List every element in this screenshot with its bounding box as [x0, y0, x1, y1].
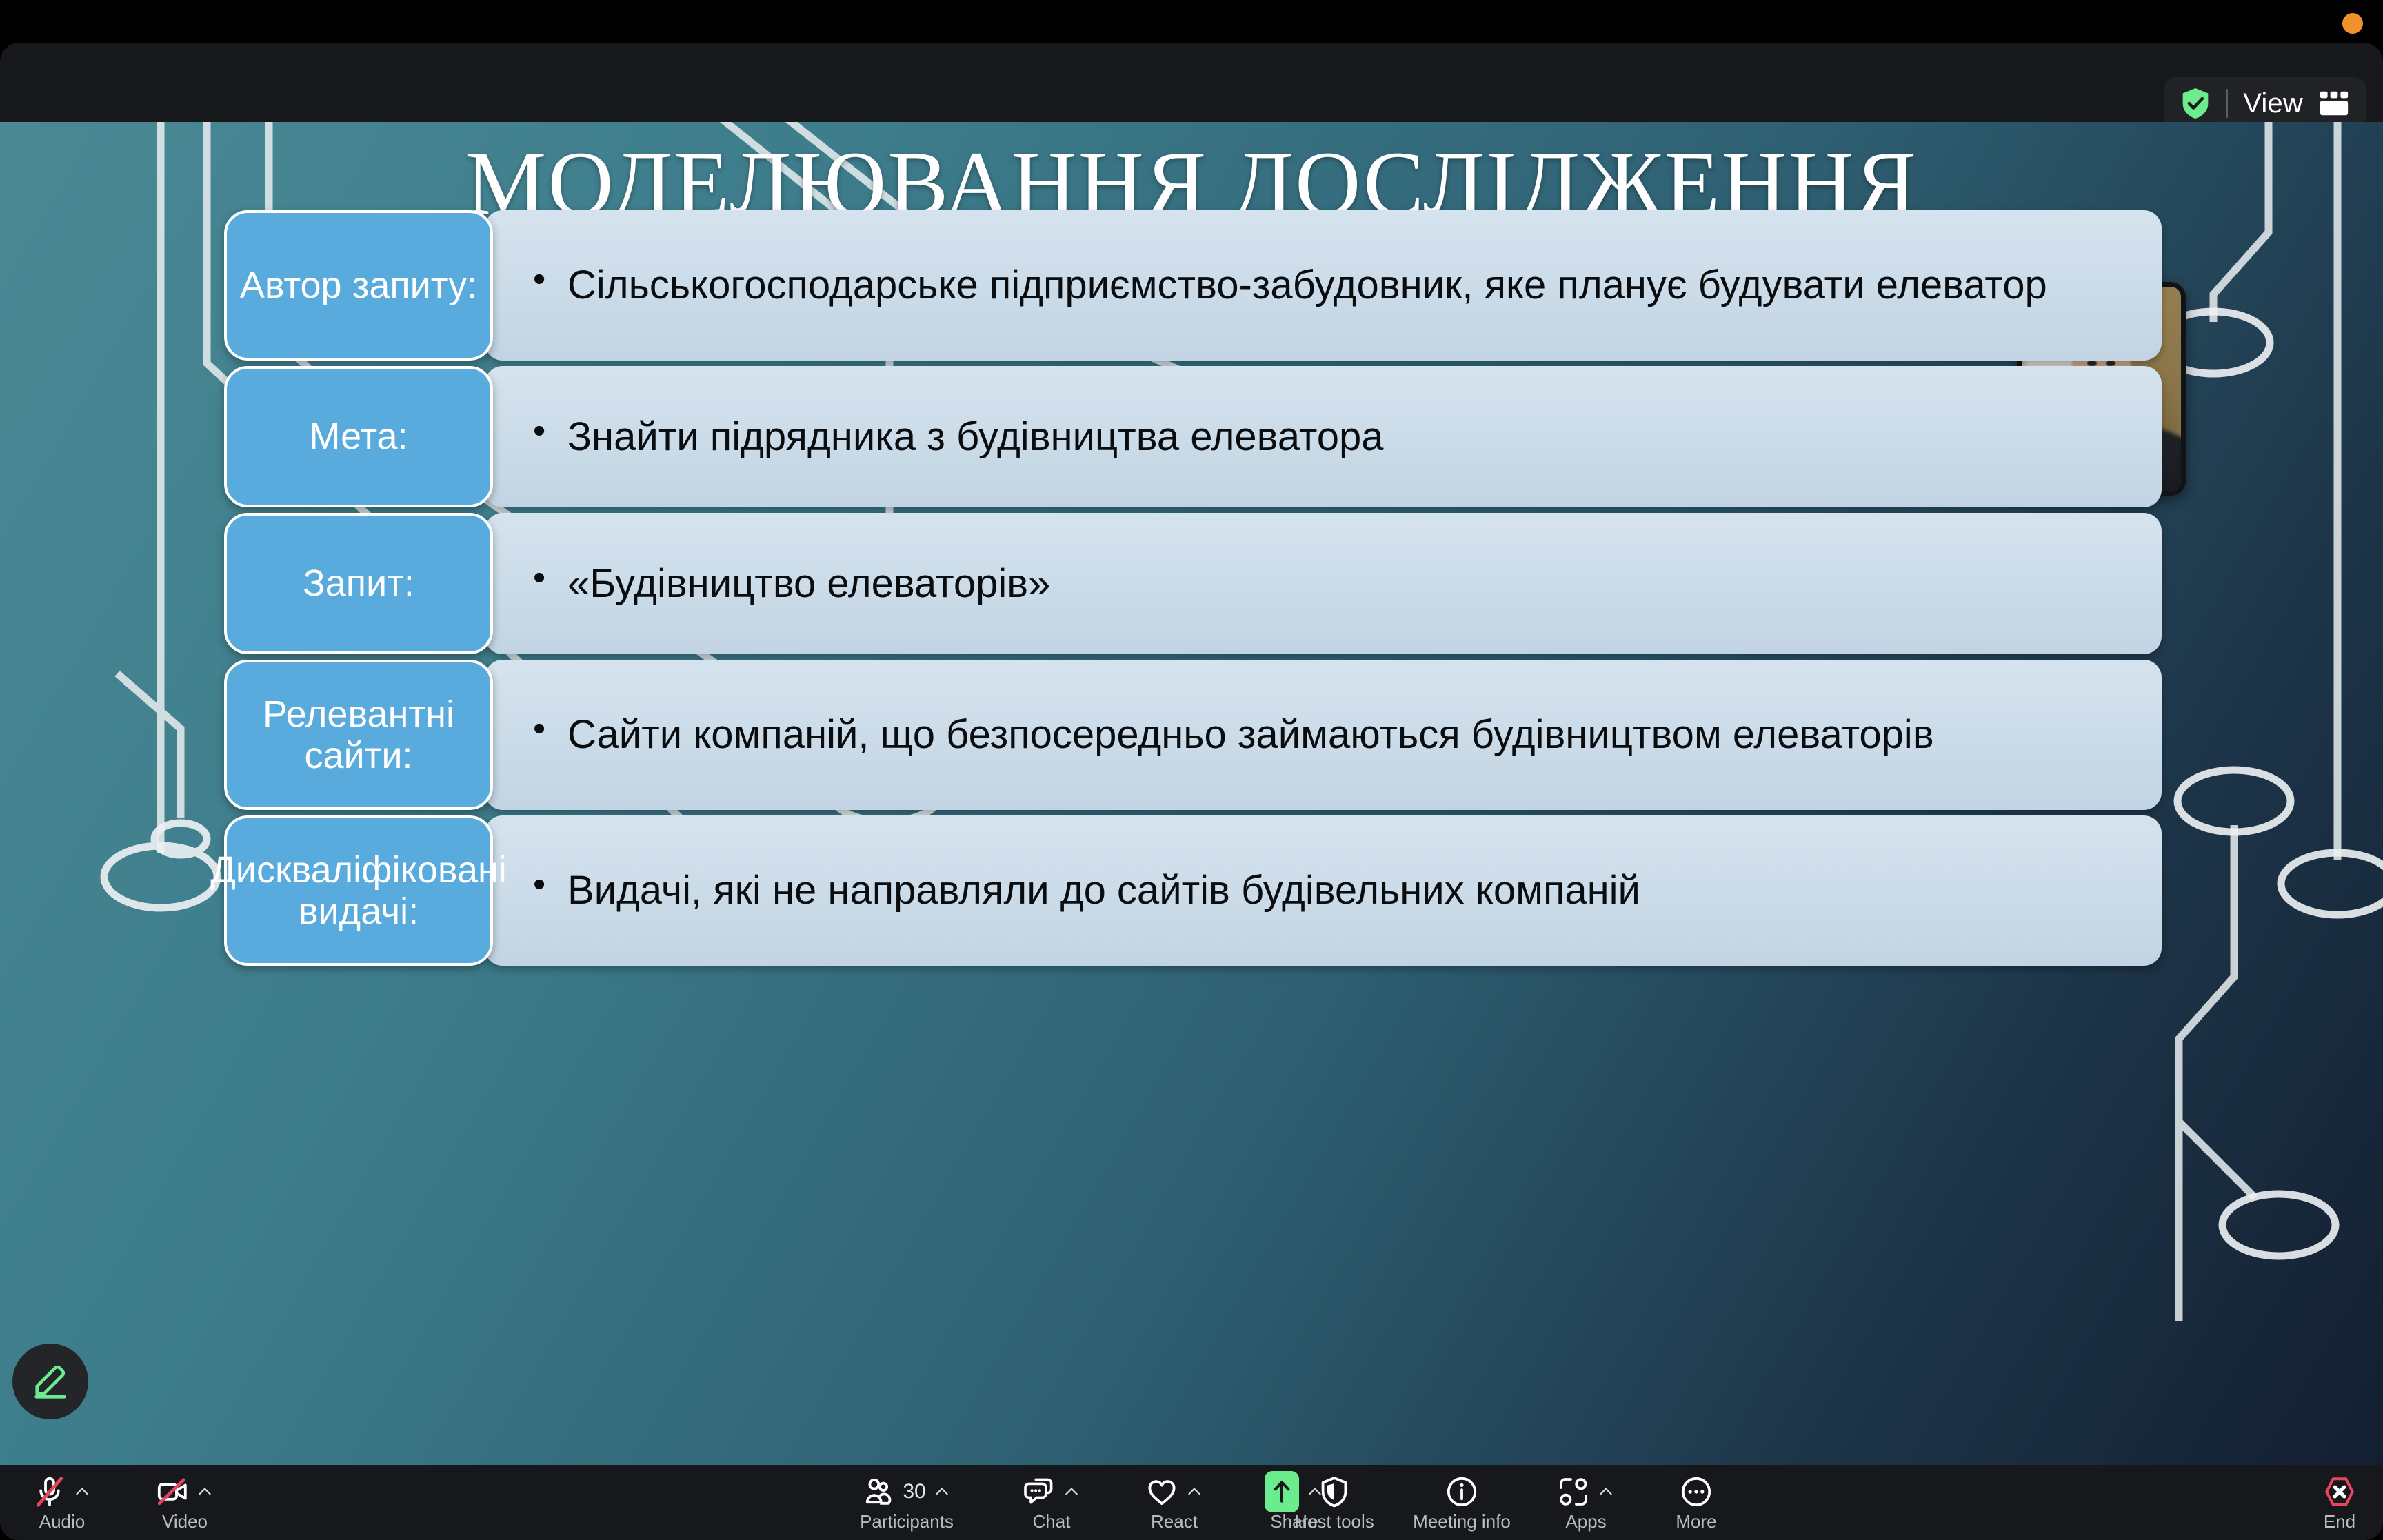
end-call-button-label: End [2324, 1512, 2355, 1530]
react-button-label: React [1151, 1512, 1198, 1530]
row-bullet-text: Сільськогосподарське підприємство-забудо… [533, 259, 2047, 311]
audio-button-label: Audio [39, 1512, 86, 1530]
row-bullet-text: Знайти підрядника з будівництва елеватор… [533, 411, 1384, 463]
row-body-query: «Будівництво елеваторів» [485, 513, 2162, 654]
more-ellipsis-icon [1680, 1475, 1713, 1508]
microphone-muted-icon [33, 1475, 66, 1508]
chat-bubble-icon [1023, 1475, 1056, 1508]
annotate-button[interactable] [12, 1344, 88, 1419]
shield-check-icon[interactable] [2180, 86, 2211, 121]
layout-grid-icon[interactable] [2318, 88, 2350, 119]
row-body-goal: Знайти підрядника з будівництва елеватор… [485, 366, 2162, 507]
heart-react-icon [1145, 1475, 1178, 1508]
table-row: Дискваліфіковані видачі: Видачі, які не … [224, 815, 2162, 966]
end-call-button[interactable]: End [2296, 1465, 2383, 1540]
participants-count: 30 [903, 1481, 925, 1502]
row-label-author: Автор запиту: [224, 210, 493, 361]
row-bullet-text: Видачі, які не направляли до сайтів буді… [533, 864, 1640, 916]
row-body-author: Сільськогосподарське підприємство-забудо… [485, 210, 2162, 361]
more-button-label: More [1676, 1512, 1716, 1530]
react-caret-icon[interactable] [1185, 1483, 1203, 1501]
audio-button[interactable]: Audio [0, 1465, 124, 1540]
participants-button-label: Participants [860, 1512, 954, 1530]
audio-options-caret-icon[interactable] [73, 1483, 91, 1501]
row-body-relevant-sites: Сайти компаній, що безпосередньо займают… [485, 660, 2162, 810]
table-row: Мета: Знайти підрядника з будівництва ел… [224, 366, 2162, 507]
top-bar-divider [2226, 89, 2228, 118]
apps-icon [1557, 1475, 1590, 1508]
table-row: Автор запиту: Сільськогосподарське підпр… [224, 210, 2162, 361]
apps-button-label: Apps [1565, 1512, 1606, 1530]
meeting-top-bar: View [0, 43, 2383, 122]
pencil-annotate-icon [30, 1360, 70, 1404]
table-row: Релевантні сайти: Сайти компаній, що без… [224, 660, 2162, 810]
info-circle-icon [1445, 1475, 1478, 1508]
end-call-icon [2323, 1475, 2356, 1508]
row-label-goal: Мета: [224, 366, 493, 507]
shared-presentation-stage: МОДЕЛЮВАННЯ ДОСЛІДЖЕННЯ Автор запиту: Сі… [0, 122, 2383, 1465]
camera-muted-icon [156, 1475, 189, 1508]
video-button[interactable]: Video [123, 1465, 247, 1540]
row-label-disqualified: Дискваліфіковані видачі: [224, 815, 493, 966]
webex-meeting-window: View [0, 0, 2383, 1540]
participants-caret-icon[interactable] [933, 1483, 951, 1501]
table-row: Запит: «Будівництво елеваторів» [224, 513, 2162, 654]
slide-content-table: Автор запиту: Сільськогосподарське підпр… [224, 210, 2162, 971]
row-label-relevant-sites: Релевантні сайти: [224, 660, 493, 810]
video-button-label: Video [162, 1512, 208, 1530]
row-label-query: Запит: [224, 513, 493, 654]
video-options-caret-icon[interactable] [196, 1483, 214, 1501]
meeting-info-button-label: Meeting info [1413, 1512, 1511, 1530]
shield-host-tools-icon [1318, 1475, 1351, 1508]
view-button-label[interactable]: View [2243, 88, 2303, 119]
recording-indicator-dot [2342, 13, 2363, 34]
host-tools-button-label: Host tools [1294, 1512, 1374, 1530]
chat-button-label: Chat [1033, 1512, 1071, 1530]
row-bullet-text: Сайти компаній, що безпосередньо займают… [533, 709, 1934, 760]
more-button[interactable]: More [1610, 1465, 1782, 1540]
chat-caret-icon[interactable] [1063, 1483, 1080, 1501]
meeting-control-bar: Audio Video [0, 1465, 2383, 1540]
participants-icon [863, 1475, 896, 1508]
row-body-disqualified: Видачі, які не направляли до сайтів буді… [485, 815, 2162, 966]
row-bullet-text: «Будівництво елеваторів» [533, 558, 1050, 609]
